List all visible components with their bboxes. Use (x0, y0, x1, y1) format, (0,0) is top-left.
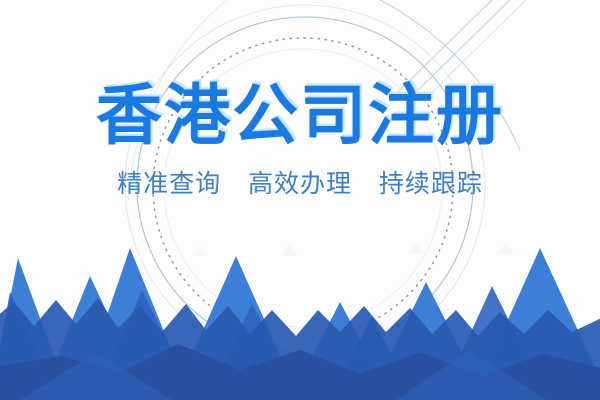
snow-cap-1 (192, 244, 208, 256)
hong-kong-company-registration-banner: 香港公司注册 精准查询 高效办理 持续跟踪 (0, 0, 600, 400)
snow-cap-2 (282, 244, 298, 256)
sub-title: 精准查询 高效办理 持续跟踪 (0, 168, 600, 200)
mountain-silhouettes (0, 240, 600, 400)
snow-caps (192, 242, 514, 256)
headline-text-block: 香港公司注册 精准查询 高效办理 持续跟踪 (0, 0, 600, 200)
main-title: 香港公司注册 (0, 80, 600, 152)
snow-cap-3 (408, 242, 424, 254)
snow-cap-4 (498, 242, 514, 254)
